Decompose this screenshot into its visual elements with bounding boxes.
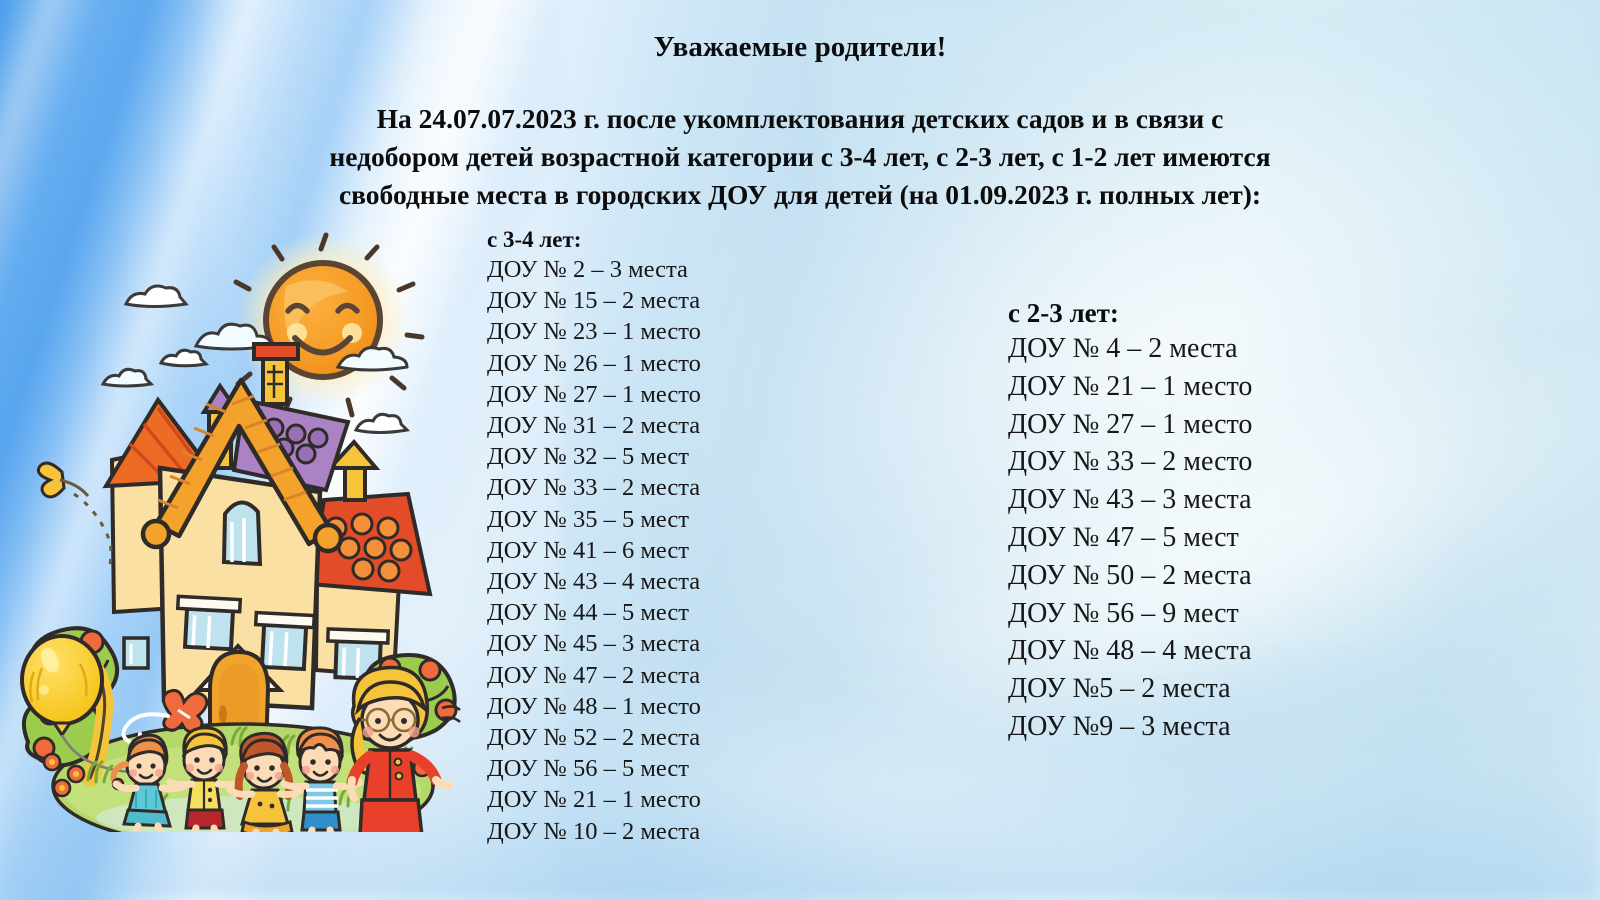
- list-item-dou-2-3: ДОУ № 47 – 5 мест: [1008, 519, 1252, 557]
- list-item-dou-2-3: ДОУ №9 – 3 места: [1008, 708, 1252, 746]
- list-item-dou-2-3: ДОУ № 21 – 1 место: [1008, 368, 1252, 406]
- column-heading-age-2-3: с 2-3 лет:: [1008, 296, 1252, 330]
- list-item-dou-2-3: ДОУ № 33 – 2 место: [1008, 443, 1252, 481]
- list-item-dou-2-3: ДОУ № 43 – 3 места: [1008, 481, 1252, 519]
- list-item-dou-2-3: ДОУ № 50 – 2 места: [1008, 557, 1252, 595]
- intro-line-3: свободные места в городских ДОУ для дете…: [0, 179, 1600, 211]
- list-item-dou-3-4: ДОУ № 32 – 5 мест: [487, 441, 701, 472]
- list-item-dou-3-4: ДОУ № 45 – 3 места: [487, 628, 701, 659]
- column-heading-age-3-4: с 3-4 лет:: [487, 226, 701, 254]
- list-item-dou-3-4: ДОУ № 15 – 2 места: [487, 285, 701, 316]
- list-item-dou-3-4: ДОУ № 33 – 2 места: [487, 472, 701, 503]
- intro-line-1: На 24.07.07.2023 г. после укомплектовани…: [0, 103, 1600, 135]
- list-item-dou-3-4: ДОУ № 48 – 1 место: [487, 691, 701, 722]
- list-items-age-2-3: ДОУ № 4 – 2 местаДОУ № 21 – 1 местоДОУ №…: [1008, 330, 1252, 746]
- list-item-dou-2-3: ДОУ № 4 – 2 места: [1008, 330, 1252, 368]
- list-item-dou-3-4: ДОУ № 35 – 5 мест: [487, 504, 701, 535]
- list-item-dou-3-4: ДОУ № 56 – 5 мест: [487, 753, 701, 784]
- list-item-dou-3-4: ДОУ № 44 – 5 мест: [487, 597, 701, 628]
- smiling-sun-icon: [221, 234, 422, 415]
- page-title: Уважаемые родители!: [0, 31, 1600, 64]
- list-item-dou-3-4: ДОУ № 41 – 6 мест: [487, 535, 701, 566]
- kindergarten-illustration: [18, 232, 468, 832]
- list-item-dou-3-4: ДОУ № 26 – 1 место: [487, 348, 701, 379]
- list-item-dou-3-4: ДОУ № 10 – 2 места: [487, 816, 701, 847]
- list-item-dou-2-3: ДОУ № 56 – 9 мест: [1008, 595, 1252, 633]
- list-column-age-2-3: с 2-3 лет: ДОУ № 4 – 2 местаДОУ № 21 – 1…: [1008, 296, 1252, 746]
- list-item-dou-3-4: ДОУ № 31 – 2 места: [487, 410, 701, 441]
- list-column-age-3-4: с 3-4 лет: ДОУ № 2 – 3 местаДОУ № 15 – 2…: [487, 226, 701, 847]
- list-item-dou-2-3: ДОУ № 27 – 1 место: [1008, 406, 1252, 444]
- list-item-dou-3-4: ДОУ № 52 – 2 места: [487, 722, 701, 753]
- list-item-dou-3-4: ДОУ № 47 – 2 места: [487, 660, 701, 691]
- dragonfly-icon: [38, 463, 111, 564]
- list-item-dou-3-4: ДОУ № 43 – 4 места: [487, 566, 701, 597]
- list-item-dou-2-3: ДОУ №5 – 2 места: [1008, 670, 1252, 708]
- intro-line-2: недобором детей возрастной категории с 3…: [0, 141, 1600, 173]
- list-item-dou-3-4: ДОУ № 21 – 1 место: [487, 784, 701, 815]
- list-item-dou-3-4: ДОУ № 2 – 3 места: [487, 254, 701, 285]
- list-items-age-3-4: ДОУ № 2 – 3 местаДОУ № 15 – 2 местаДОУ №…: [487, 254, 701, 847]
- list-item-dou-3-4: ДОУ № 23 – 1 место: [487, 316, 701, 347]
- list-item-dou-2-3: ДОУ № 48 – 4 места: [1008, 632, 1252, 670]
- list-item-dou-3-4: ДОУ № 27 – 1 место: [487, 379, 701, 410]
- poster-canvas: Уважаемые родители! На 24.07.07.2023 г. …: [0, 0, 1600, 900]
